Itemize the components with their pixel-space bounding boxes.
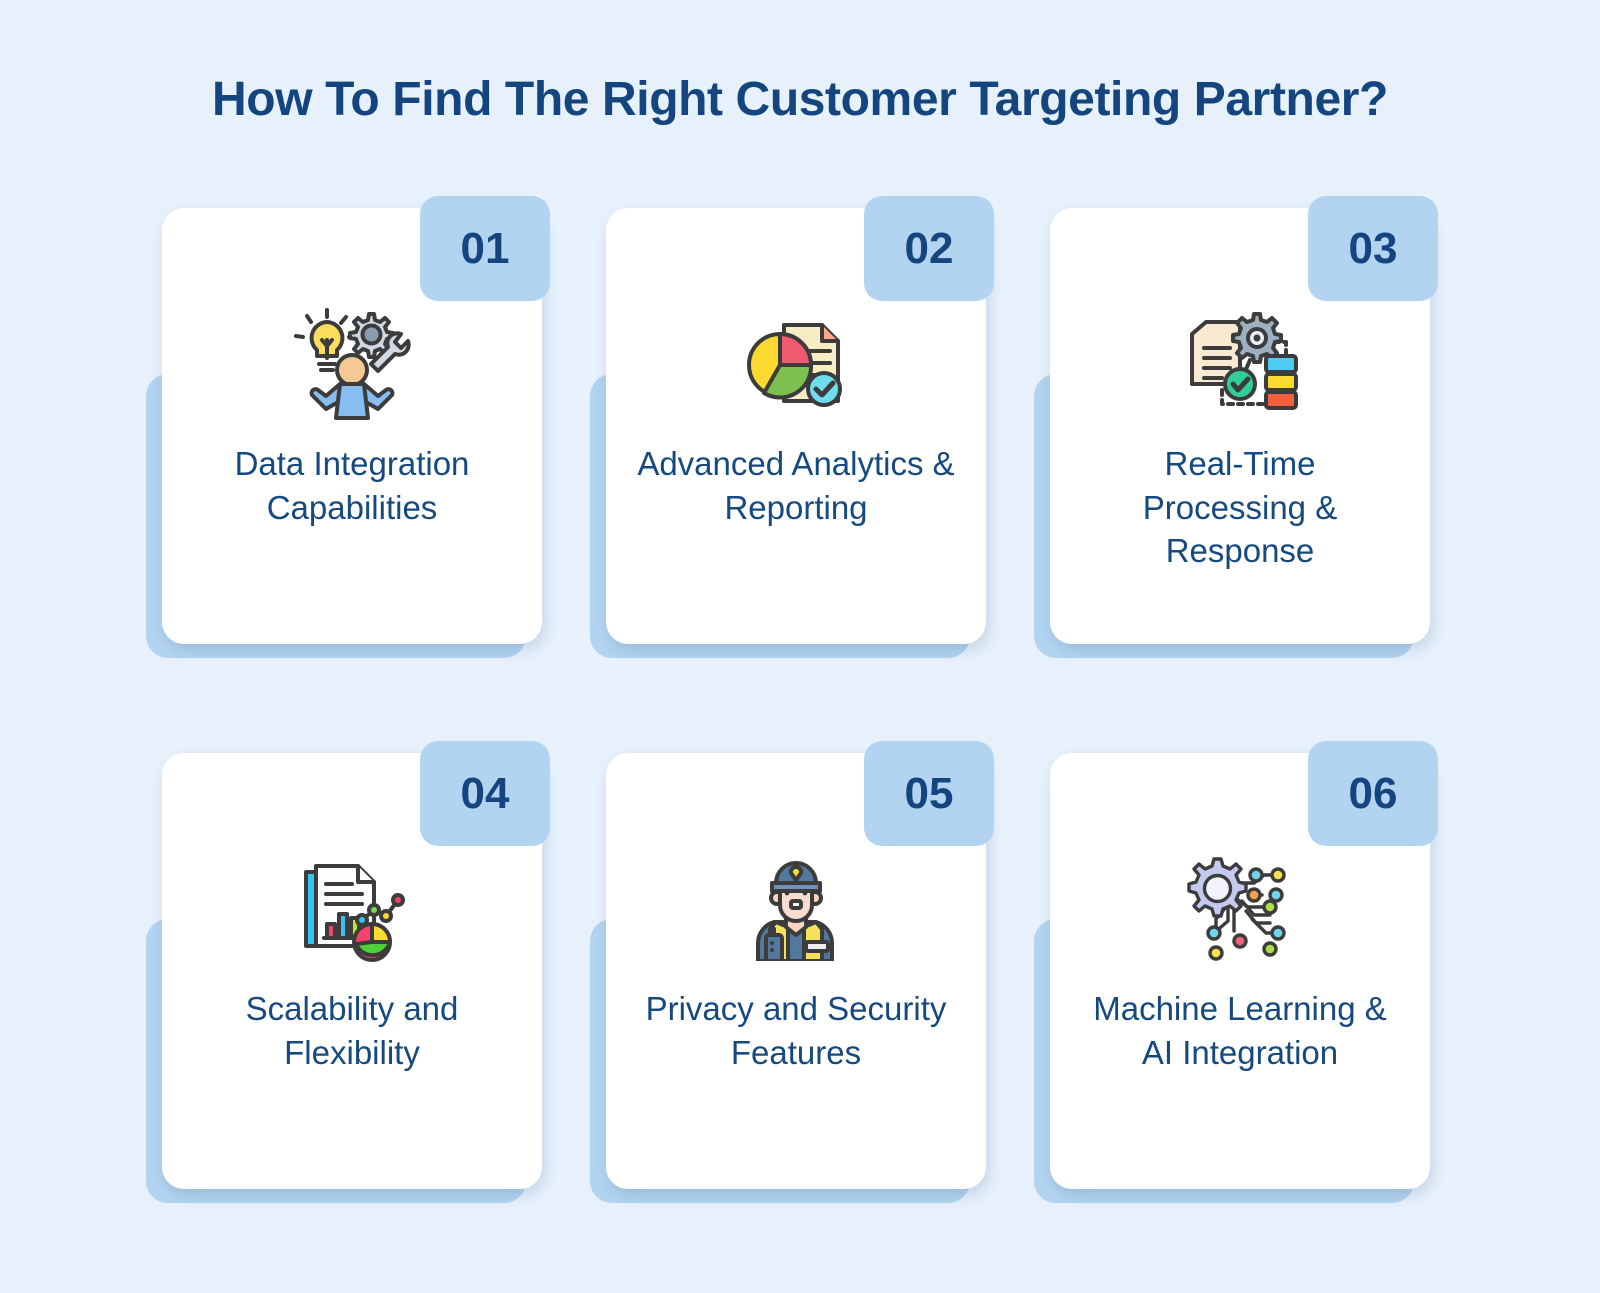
gear-network-nodes-icon [1175, 849, 1305, 969]
card-02[interactable]: Advanced Analytics & Reporting 02 [590, 196, 994, 658]
card-surface[interactable]: Real-Time Processing & Response 03 [1050, 208, 1430, 644]
card-06[interactable]: Machine Learning & AI Integration 06 [1034, 741, 1438, 1203]
card-label: Scalability and Flexibility [192, 987, 512, 1074]
card-number-badge: 01 [420, 196, 550, 301]
card-number-badge: 03 [1308, 196, 1438, 301]
card-04[interactable]: Scalability and Flexibility 04 [146, 741, 550, 1203]
card-surface[interactable]: Scalability and Flexibility 04 [162, 753, 542, 1189]
card-number-badge: 04 [420, 741, 550, 846]
card-number-badge: 02 [864, 196, 994, 301]
pie-chart-document-check-icon [731, 304, 861, 424]
card-surface[interactable]: Privacy and Security Features 05 [606, 753, 986, 1189]
card-01[interactable]: Data Integration Capabilities 01 [146, 196, 550, 658]
card-label: Advanced Analytics & Reporting [636, 442, 956, 529]
card-number-badge: 06 [1308, 741, 1438, 846]
document-gear-check-bars-icon [1175, 304, 1305, 424]
card-label: Machine Learning & AI Integration [1080, 987, 1400, 1074]
card-03[interactable]: Real-Time Processing & Response 03 [1034, 196, 1438, 658]
report-bar-line-pie-chart-icon [287, 849, 417, 969]
card-label: Data Integration Capabilities [192, 442, 512, 529]
card-surface[interactable]: Data Integration Capabilities 01 [162, 208, 542, 644]
card-label: Real-Time Processing & Response [1080, 442, 1400, 573]
card-number-badge: 05 [864, 741, 994, 846]
cards-grid: Data Integration Capabilities 01 [146, 196, 1446, 1211]
security-guard-icon [731, 849, 861, 969]
card-surface[interactable]: Advanced Analytics & Reporting 02 [606, 208, 986, 644]
page-title: How To Find The Right Customer Targeting… [0, 72, 1600, 127]
person-lightbulb-gear-wrench-icon [287, 304, 417, 424]
card-surface[interactable]: Machine Learning & AI Integration 06 [1050, 753, 1430, 1189]
card-label: Privacy and Security Features [636, 987, 956, 1074]
card-05[interactable]: Privacy and Security Features 05 [590, 741, 994, 1203]
infographic-page: How To Find The Right Customer Targeting… [0, 0, 1600, 1293]
